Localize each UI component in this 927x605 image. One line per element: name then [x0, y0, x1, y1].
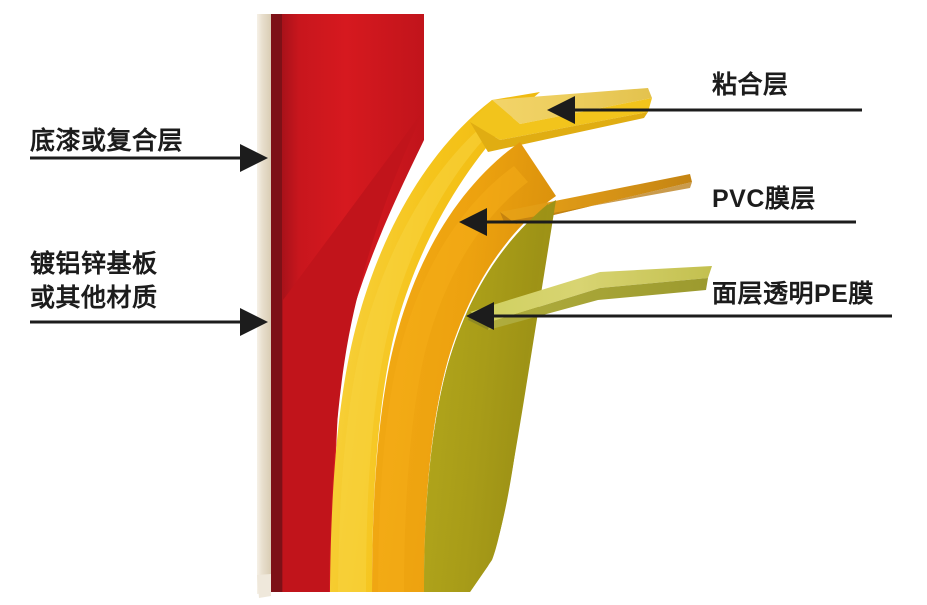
- label-adhesive-layer: 粘合层: [712, 68, 789, 102]
- primer-layer-strip: [257, 14, 271, 594]
- diagram-canvas: 底漆或复合层 镀铝锌基板 或其他材质 粘合层 PVC膜层 面层透明PE膜: [0, 0, 927, 605]
- label-pvc-film-layer: PVC膜层: [712, 182, 816, 216]
- label-transparent-pe-film-layer: 面层透明PE膜: [712, 277, 874, 311]
- label-galvalume-substrate: 镀铝锌基板 或其他材质: [30, 247, 158, 315]
- primer-bottom-tip: [257, 574, 271, 598]
- substrate-dark-edge: [271, 14, 282, 592]
- label-primer-or-composite-layer: 底漆或复合层: [30, 124, 183, 158]
